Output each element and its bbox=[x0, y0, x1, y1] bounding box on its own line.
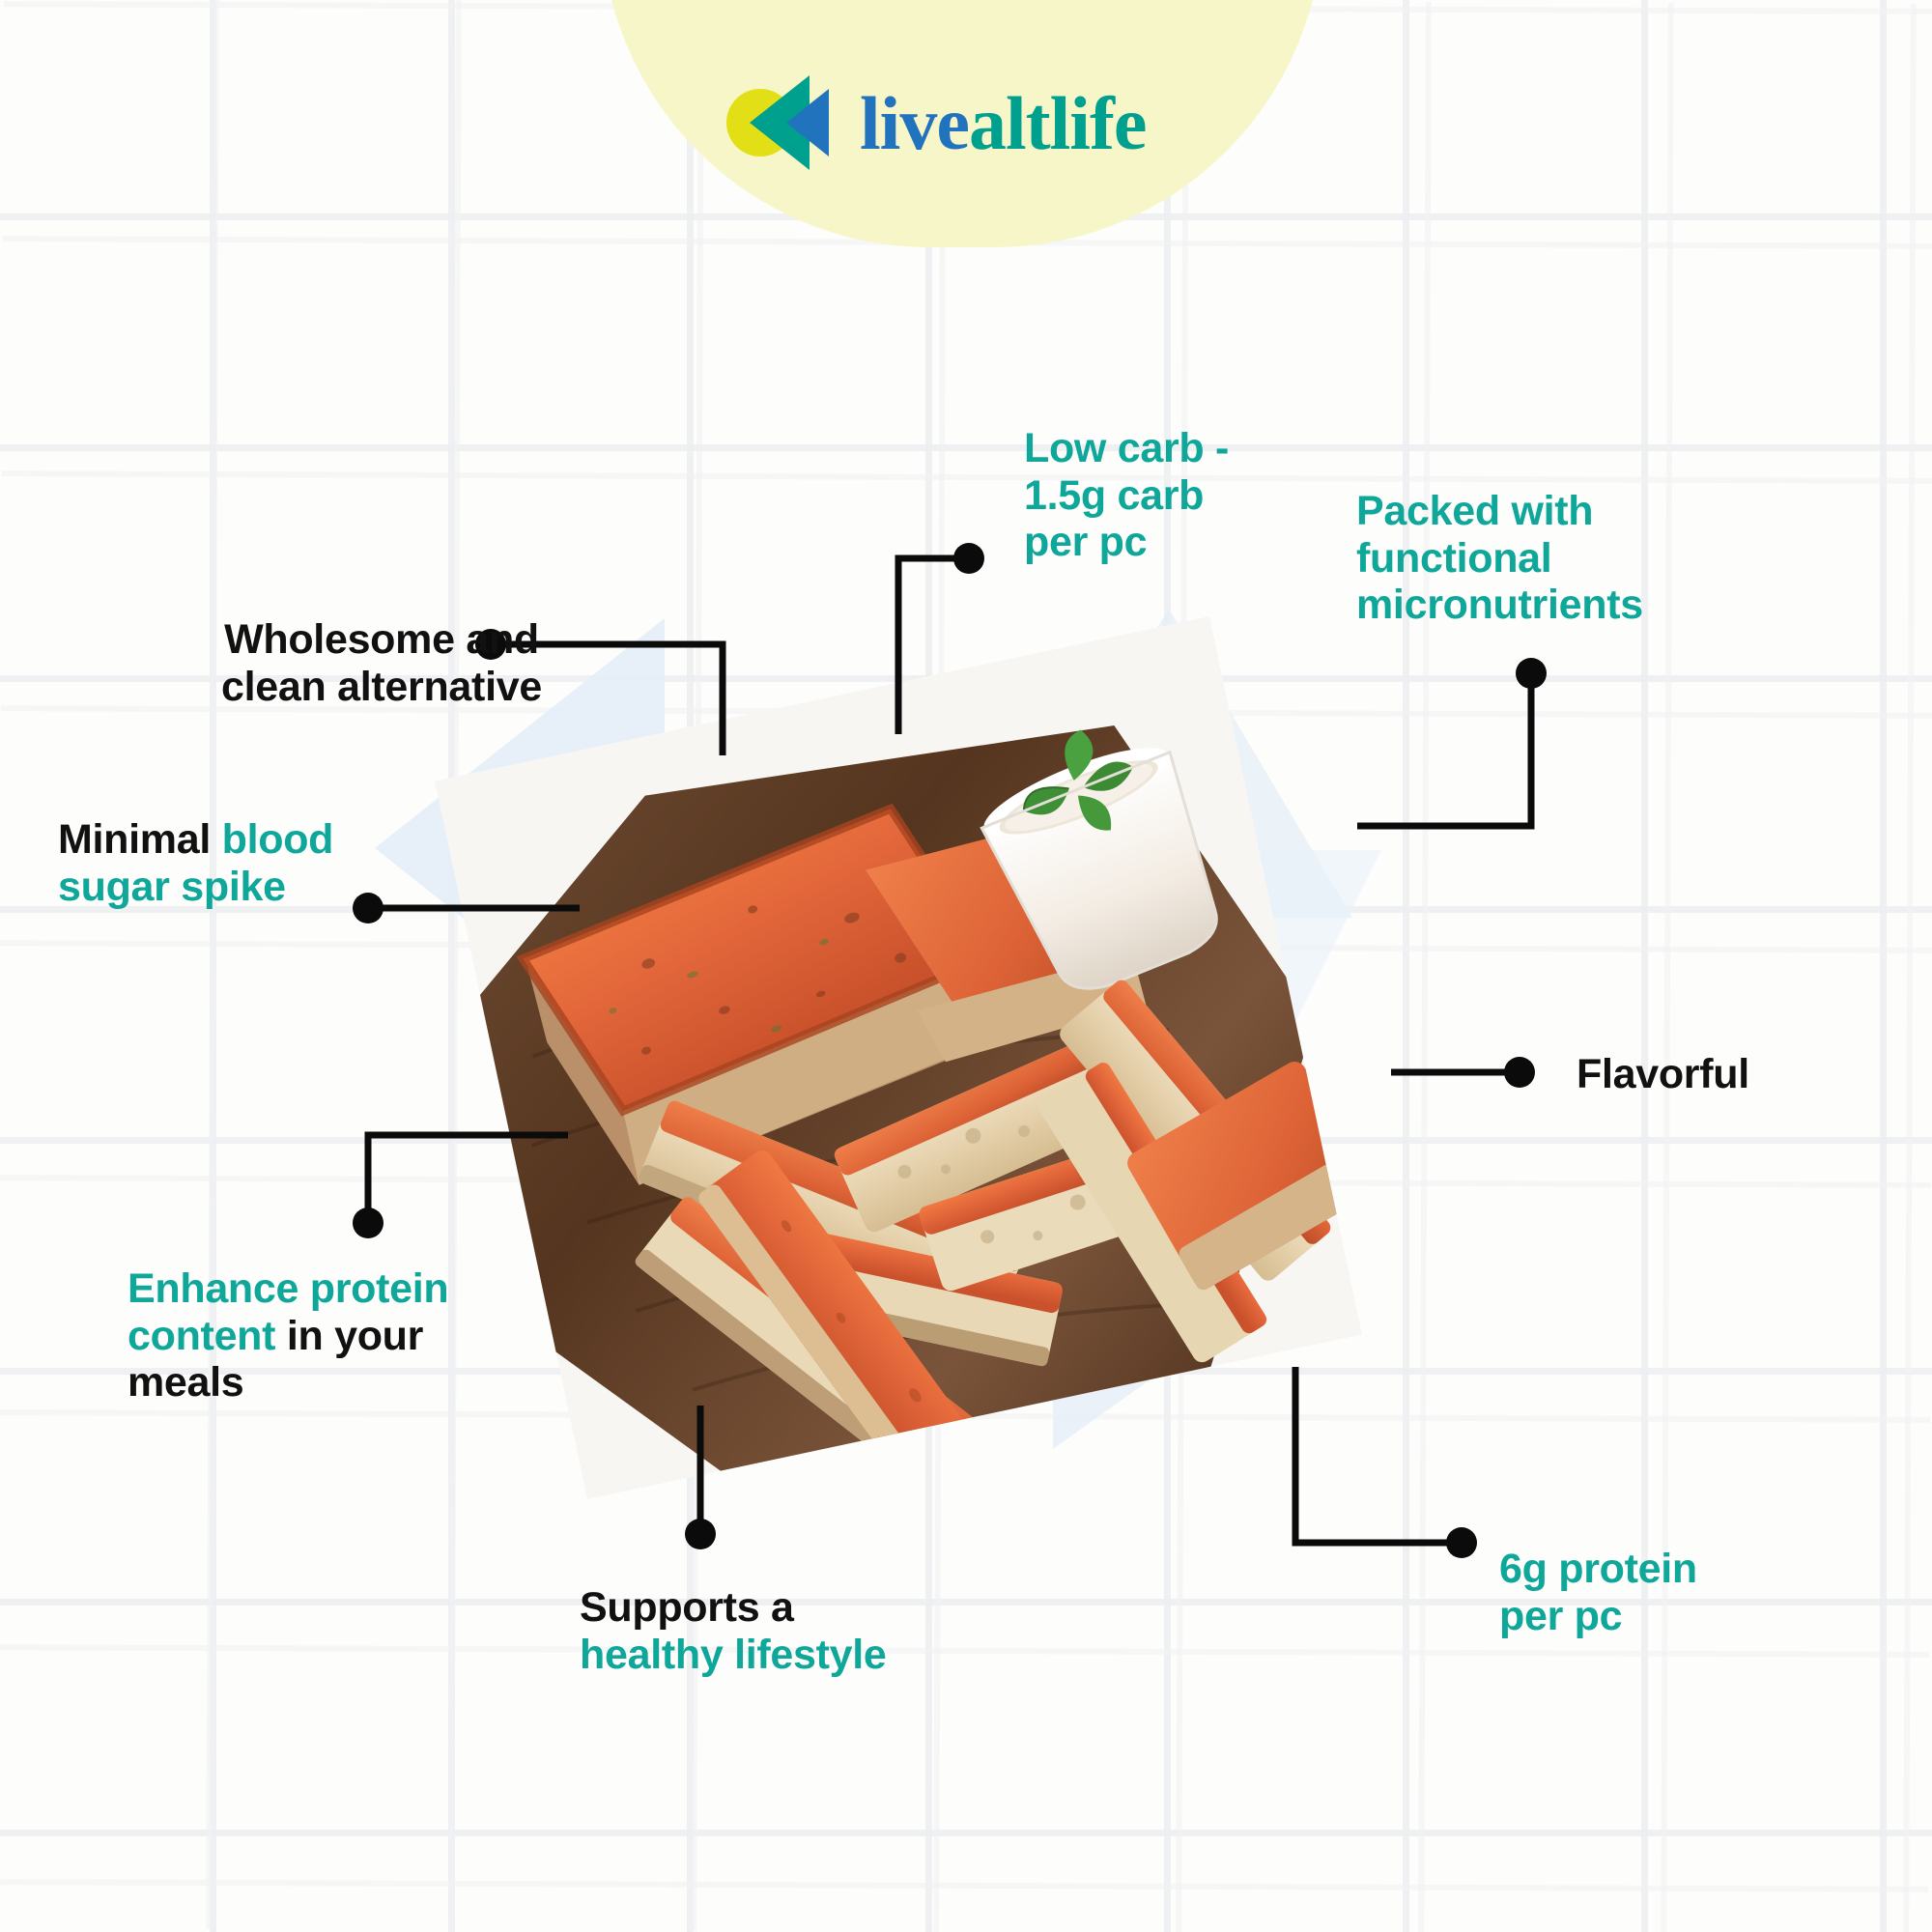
feature-minimal-blood-sugar-spike: Minimal blood sugar spike bbox=[58, 816, 444, 910]
label-line-3: micronutrients bbox=[1356, 582, 1643, 628]
feature-enhance-protein-content: Enhance protein content in your meals bbox=[128, 1265, 533, 1406]
label-line-1-teal: Enhance protein bbox=[128, 1265, 448, 1312]
label-line-1: Low carb - bbox=[1024, 425, 1229, 471]
label-line-3-dark: meals bbox=[128, 1359, 243, 1406]
feature-flavorful: Flavorful bbox=[1577, 1051, 1886, 1098]
label-line-2: 1.5g carb bbox=[1024, 472, 1204, 519]
callout-dot-protein bbox=[1446, 1527, 1477, 1558]
callout-dot-micronutrients bbox=[1516, 658, 1547, 689]
label-line-3: per pc bbox=[1024, 519, 1147, 565]
label-line-1-dark: Supports a bbox=[580, 1584, 794, 1631]
label-line-2-teal: sugar spike bbox=[58, 864, 286, 910]
label-line-2: per pc bbox=[1499, 1593, 1622, 1639]
label-line-2-teal: healthy lifestyle bbox=[580, 1632, 887, 1678]
label-line-2-teal: content bbox=[128, 1313, 275, 1359]
callout-dot-supports bbox=[685, 1519, 716, 1549]
label-line-1: 6g protein bbox=[1499, 1546, 1697, 1592]
label-line-1: Flavorful bbox=[1577, 1051, 1749, 1097]
infographic-canvas: livealtlife Wholesome and clean alternat… bbox=[0, 0, 1932, 1932]
feature-supports-healthy-lifestyle: Supports a healthy lifestyle bbox=[580, 1584, 985, 1678]
feature-wholesome-clean-alternative: Wholesome and clean alternative bbox=[174, 616, 589, 710]
callout-dot-flavorful bbox=[1504, 1057, 1535, 1088]
label-line-1-teal: blood bbox=[222, 816, 334, 863]
label-line-1: Packed with bbox=[1356, 488, 1593, 534]
label-line-1-dark: Minimal bbox=[58, 816, 222, 863]
label-line-2: clean alternative bbox=[221, 664, 542, 710]
label-line-2-dark: in your bbox=[275, 1313, 423, 1359]
label-line-2: functional bbox=[1356, 535, 1551, 582]
callout-dot-lowcarb bbox=[953, 543, 984, 574]
label-line-1: Wholesome and bbox=[224, 616, 539, 663]
callout-dot-enhance bbox=[353, 1207, 384, 1238]
feature-packed-with-functional-micronutrients: Packed with functional micronutrients bbox=[1356, 488, 1762, 629]
feature-6g-protein-per-pc: 6g protein per pc bbox=[1499, 1546, 1808, 1639]
feature-low-carb: Low carb - 1.5g carb per pc bbox=[1024, 425, 1314, 566]
